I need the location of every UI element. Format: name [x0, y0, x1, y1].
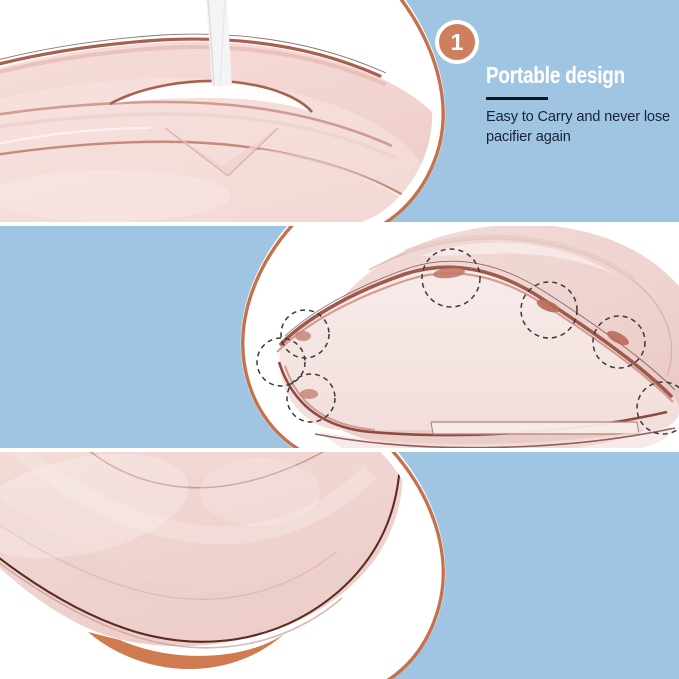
latch-bar [431, 422, 639, 434]
step-badge-1: 1 [435, 20, 479, 64]
feature-panel-3: Egg shell design The design principle of… [0, 452, 679, 679]
photo-2-content [219, 226, 679, 448]
product-photo-2-svg [219, 226, 679, 448]
feature-panel-2: Extending Buckle Design Made it more fir… [0, 226, 679, 448]
feature-body-1: Easy to Carry and never lose pacifier ag… [486, 108, 679, 147]
product-photo-3 [0, 452, 500, 679]
feature-panel-1: Portable design Easy to Carry and never … [0, 0, 679, 222]
product-photo-1-svg [0, 0, 500, 222]
feature-headline-1: Portable design [486, 62, 666, 88]
product-photo-3-svg [0, 452, 500, 679]
product-photo-2 [219, 226, 679, 448]
feature-text-1: Portable design Easy to Carry and never … [486, 62, 679, 147]
photo-3-content [0, 452, 500, 679]
product-feature-infographic: Portable design Easy to Carry and never … [0, 0, 679, 679]
headline-rule-1 [486, 97, 548, 100]
product-photo-1 [0, 0, 500, 222]
